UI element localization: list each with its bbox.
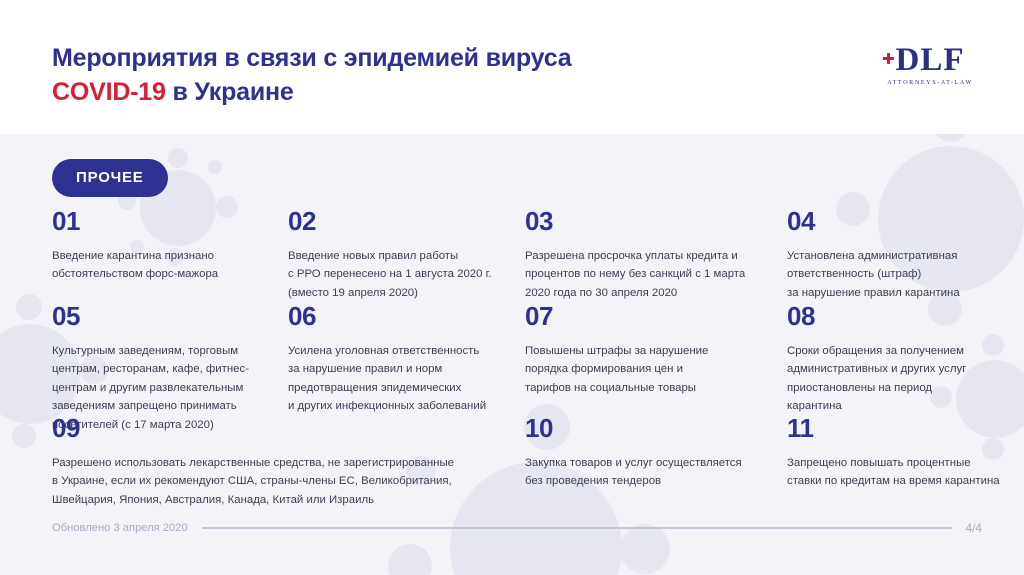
category-badge: ПРОЧЕЕ	[52, 159, 168, 197]
items-row: 09 Разрешено использовать лекарственные …	[52, 415, 976, 505]
item-text: Разрешено использовать лекарственные сре…	[52, 454, 514, 509]
list-item: 09 Разрешено использовать лекарственные …	[52, 415, 514, 509]
item-number: 01	[52, 208, 277, 234]
item-number: 03	[525, 208, 770, 234]
item-text: Повышены штрафы за нарушение порядка фор…	[525, 342, 765, 397]
list-item: 02 Введение новых правил работы с РРО пе…	[288, 208, 523, 302]
item-text: Закупка товаров и услуг осуществляется б…	[525, 454, 770, 491]
item-text: Установлена административная ответственн…	[787, 247, 987, 302]
item-number: 08	[787, 303, 997, 329]
items-grid: 01 Введение карантина признано обстоятел…	[52, 208, 976, 505]
logo-wordmark: DLF	[896, 44, 965, 77]
logo-tagline: ATTORNEYS-AT-LAW	[878, 79, 982, 86]
page-indicator: 4/4	[966, 521, 982, 535]
list-item: 07 Повышены штрафы за нарушение порядка …	[525, 303, 765, 397]
page-header: Мероприятия в связи с эпидемией вируса C…	[0, 0, 1024, 134]
item-number: 09	[52, 415, 514, 441]
dlf-logo: DLF ATTORNEYS-AT-LAW	[878, 44, 982, 94]
item-text: Разрешена просрочка уплаты кредита и про…	[525, 247, 770, 302]
logo-name: DLF	[896, 42, 965, 78]
item-number: 02	[288, 208, 523, 234]
list-item: 04 Установлена административная ответств…	[787, 208, 987, 302]
item-number: 06	[288, 303, 533, 329]
item-text: Введение новых правил работы с РРО перен…	[288, 247, 523, 302]
page-title-line-1: Мероприятия в связи с эпидемией вируса	[52, 42, 571, 75]
list-item: 10 Закупка товаров и услуг осуществляетс…	[525, 415, 770, 491]
list-item: 06 Усилена уголовная ответственность за …	[288, 303, 533, 416]
item-text: Усилена уголовная ответственность за нар…	[288, 342, 533, 416]
list-item: 11 Запрещено повышать процентные ставки …	[787, 415, 1002, 491]
item-text: Сроки обращения за получением администра…	[787, 342, 997, 416]
page-title-line-2-rest: в Украине	[166, 78, 294, 106]
red-cross-icon	[883, 53, 894, 64]
item-number: 11	[787, 415, 1002, 441]
list-item: 08 Сроки обращения за получением админис…	[787, 303, 997, 416]
list-item: 01 Введение карантина признано обстоятел…	[52, 208, 277, 284]
updated-date: Обновлено 3 апреля 2020	[52, 522, 188, 534]
item-number: 05	[52, 303, 280, 329]
items-row: 01 Введение карантина признано обстоятел…	[52, 208, 976, 304]
item-text: Введение карантина признано обстоятельст…	[52, 247, 277, 284]
page-title-line-2: COVID-19 в Украине	[52, 76, 571, 109]
footer-divider	[202, 527, 952, 529]
page-title: Мероприятия в связи с эпидемией вируса C…	[52, 42, 571, 110]
covid-label: COVID-19	[52, 78, 166, 106]
item-text: Запрещено повышать процентные ставки по …	[787, 454, 1002, 491]
item-number: 10	[525, 415, 770, 441]
item-number: 07	[525, 303, 765, 329]
list-item: 03 Разрешена просрочка уплаты кредита и …	[525, 208, 770, 302]
page-footer: Обновлено 3 апреля 2020 4/4	[52, 521, 982, 535]
items-row: 05 Культурным заведениям, торговым центр…	[52, 303, 976, 415]
item-number: 04	[787, 208, 987, 234]
